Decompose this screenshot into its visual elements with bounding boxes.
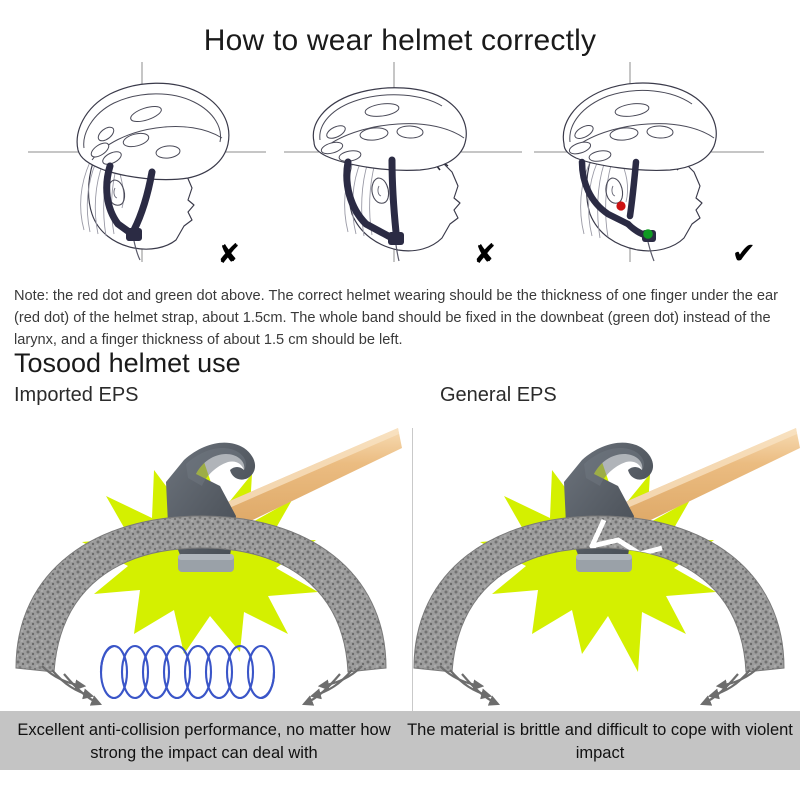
impact-column-imported-eps [6, 420, 402, 716]
fitting-note-text: Note: the red dot and green dot above. T… [14, 285, 790, 352]
infographic-page: How to wear helmet correctly [0, 0, 800, 800]
caption-bar: Excellent anti-collision performance, no… [0, 711, 800, 770]
caption-general-eps: The material is brittle and difficult to… [404, 719, 796, 766]
status-mark-cross: ✘ [217, 241, 240, 268]
helmet-illustration-tilted-forward [274, 62, 532, 262]
strap-buckle [126, 228, 142, 241]
helmet-illustration-tilted-back [18, 62, 276, 262]
status-mark-check: ✔ [732, 239, 756, 268]
vent [397, 126, 423, 139]
helmet-shell-outer [77, 83, 229, 179]
subtitle-general-eps: General EPS [440, 384, 557, 407]
caption-imported-eps: Excellent anti-collision performance, no… [8, 719, 400, 766]
impact-comparison-area [0, 420, 800, 716]
subtitle-imported-eps: Imported EPS [14, 384, 139, 407]
helmet-panel-correct-fit: ✔ [528, 62, 786, 262]
impact-illustration-general-eps [404, 420, 800, 716]
strap-buckle [388, 232, 404, 245]
helmet-illustration-correct [528, 62, 786, 262]
page-title: How to wear helmet correctly [0, 24, 800, 58]
impact-column-general-eps [404, 420, 800, 716]
helmet-panel-tilted-back: ✘ [18, 62, 276, 262]
status-mark-cross: ✘ [473, 241, 496, 268]
green-dot-chin [643, 229, 653, 239]
section-heading-eps: Tosood helmet use [14, 348, 241, 379]
red-dot-under-ear [616, 201, 625, 210]
helmet-comparison-row: ✘ [0, 62, 800, 262]
energy-arrows [440, 666, 760, 704]
spring-coil [101, 646, 274, 698]
impact-illustration-imported-eps [6, 420, 402, 716]
vent [647, 126, 673, 139]
energy-arrows [42, 666, 362, 704]
helmet-panel-tilted-forward: ✘ [274, 62, 532, 262]
